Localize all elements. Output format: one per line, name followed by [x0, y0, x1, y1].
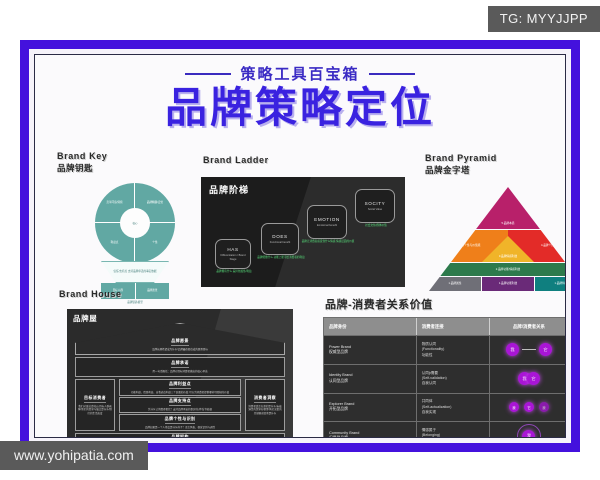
brand-house-label: Brand House [59, 289, 122, 299]
bubble-it: 它 [527, 372, 540, 385]
house-mid-benefit: 品牌利益点 功能利益、情感利益、自我表达利益三个层面的价值 可以为消费者提供哪些… [119, 379, 241, 396]
table-col-link: 消费者连接 [417, 318, 490, 335]
house-left-sub: 我们对谁说话/核心目标人群画像/他们的需求与痛点是什么/他们的生活态度 [78, 405, 112, 415]
house-mid-1-sub: 功能利益、情感利益、自我表达利益三个层面的价值 可以为消费者提供哪些可感知的价值 [131, 391, 229, 394]
dash-right-icon [369, 73, 415, 75]
brand-consumer-table: 品牌身份 消费者连接 品牌/消费者关系 Power Brand 权威型品牌 物质… [323, 317, 566, 438]
table-row: Community Brand 归属型品牌 情感属于 (Belonging) 归… [324, 421, 566, 438]
brand-house-diagram: 品牌屋 品牌愿景 品牌长期希望成为什么/品牌最终要达成的愿景目标 品牌承诺 用一… [67, 309, 293, 438]
table-row: Explorer Brand 开拓型品牌 共同体 (Self-actualiza… [324, 393, 566, 422]
poster-main-title: 品牌策略定位 [35, 86, 565, 130]
house-right-title: 消费者洞察 [254, 395, 276, 403]
brand-key-core: 核心 [120, 208, 150, 238]
brand-ladder-title-cn: 品牌阶梯 [209, 183, 249, 196]
ladder-step-has-sub: Differentiation / Brand Stage [218, 254, 248, 260]
brand-key-diagram: 竞争环境/洞察 品牌精髓/定位 利益点 个性 核心 信任/支持点 支持品牌承诺的… [57, 173, 197, 301]
house-right-sub: 消费者真正在意的是什么/未被满足的需求在哪里/购买决策的关键驱动因素是什么 [248, 405, 282, 415]
row-4-link-en: (Belonging) [422, 433, 484, 438]
brand-house-title-cn: 品牌屋 [73, 313, 97, 324]
pyramid-band-text: 2.品牌功能/情感利益 [429, 263, 566, 276]
house-mid-1-title: 品牌利益点 [169, 381, 191, 389]
relation-overlap-pair: 我 它 [495, 368, 563, 390]
brand-key-label-cn: 品牌钥匙 [57, 162, 107, 174]
brand-consumer-heading: 品牌-消费者关系价值 [325, 295, 433, 312]
brand-pyramid-label-en: Brand Pyramid [425, 153, 497, 163]
relation-ring-icon [517, 424, 541, 438]
table-row: Power Brand 权威型品牌 物质认同 (Functionality) 功… [324, 335, 566, 364]
brand-key-base-2: 品牌愿景 [136, 283, 170, 299]
ladder-note-socity: 社会文化/群体价值 [351, 224, 401, 227]
row-2-cn: 认同型品牌 [329, 379, 411, 384]
brand-ladder-diagram: 品牌阶梯 HAS Differentiation / Brand Stage 品… [201, 177, 405, 287]
brand-ladder-label: Brand Ladder [203, 155, 269, 165]
row-3-cn: 开拓型品牌 [329, 407, 411, 412]
house-promise-sub: 用一句话概括：品牌对目标消费者做出的核心承诺 [152, 370, 207, 373]
relation-triple-group: 我 它 我 [495, 397, 563, 419]
row-1-link-cn2: 功能性 [422, 353, 484, 358]
bubble-me: 我 [506, 343, 519, 356]
brand-key-label: Brand Key 品牌钥匙 [57, 151, 107, 174]
house-mid-2-title: 品牌支持点 [169, 398, 191, 406]
row-4-cn: 归属型品牌 [329, 436, 411, 438]
pyramid-level-top: 5.品牌本质 [429, 187, 566, 229]
ladder-step-emotion-sub: Emotional benefit [317, 224, 337, 227]
pyramid-level-band: 2.品牌功能/情感利益 [429, 263, 566, 276]
row-4-link: 情感属于 (Belonging) 归属 [417, 422, 490, 438]
row-2-link: 认同þ需要 (Self-validation) 自我认同 [417, 365, 490, 393]
site-watermark: www.yohipatia.com [0, 441, 148, 470]
house-mid-3-title: 品牌个性与识别 [165, 416, 196, 424]
pyramid-base-3: 1.品牌特征 [535, 277, 566, 291]
ladder-step-has-title: HAS [227, 247, 238, 252]
row-2-relation: 我 它 [490, 365, 566, 393]
row-3-link: 共同体 (Self-actualization) 自我实现 [417, 394, 490, 422]
relation-linked-pair: 我 它 [495, 339, 563, 361]
pyramid-base-2: 1.品牌功能利益 [482, 277, 535, 291]
poster-inner-mat: 策略工具百宝箱 品牌策略定位 Brand Key 品牌钥匙 竞争环境/洞察 品牌… [29, 49, 571, 443]
pyramid-base-1: 1.品牌属性 [429, 277, 482, 291]
house-mid-2-sub: 凭什么让消费者相信？支持品牌承诺的事实/技术/背书依据 [148, 408, 212, 411]
house-left-title: 目标消费者 [84, 395, 106, 403]
brand-pyramid-label-cn: 品牌金字塔 [425, 164, 497, 176]
relation-ring-group: 我 [495, 425, 563, 438]
bubble-it: 它 [539, 343, 552, 356]
house-promise: 品牌承诺 用一句话概括：品牌对目标消费者做出的核心承诺 [75, 357, 285, 377]
bubble-it: 它 [524, 402, 534, 412]
brand-pyramid-label: Brand Pyramid 品牌金字塔 [425, 153, 497, 176]
row-3-identity: Explorer Brand 开拓型品牌 [324, 394, 417, 422]
house-mid-support: 品牌支持点 凭什么让消费者相信？支持品牌承诺的事实/技术/背书依据 [119, 397, 241, 413]
poster-subtitle: 策略工具百宝箱 [240, 63, 359, 84]
bubble-me: 我 [509, 402, 519, 412]
ladder-step-socity: SOCITY Social Value [355, 189, 395, 223]
house-right-pillar: 消费者洞察 消费者真正在意的是什么/未被满足的需求在哪里/购买决策的关键驱动因素… [245, 379, 285, 431]
ladder-step-socity-title: SOCITY [365, 201, 386, 206]
brand-key-foot: 品牌钥匙模型 [101, 300, 169, 304]
poster-subtitle-row: 策略工具百宝箱 [35, 63, 565, 84]
dash-left-icon [185, 73, 231, 75]
table-header-row: 品牌身份 消费者连接 品牌/消费者关系 [324, 318, 566, 335]
row-4-relation: 我 [490, 422, 566, 438]
brand-key-label-en: Brand Key [57, 151, 107, 161]
brand-key-trapezoid: 信任/支持点 支持品牌承诺的事实依据 [101, 261, 169, 283]
house-bottom-title: 品牌架构 [171, 434, 189, 438]
house-architecture: 品牌架构 品牌与子品牌的关系如何？品牌资产如何管理？ [75, 433, 285, 438]
house-mid-3-sub: 品牌如果是一个人他会是什么样子？语言风格、视觉识别与调性 [145, 426, 215, 429]
row-1-identity: Power Brand 权威型品牌 [324, 336, 417, 364]
poster-screenshot: TG: MYYJJPP 策略工具百宝箱 品牌策略定位 Brand Key 品牌钥… [0, 0, 600, 480]
ladder-step-does: DOES Functional benefit [261, 223, 299, 255]
house-promise-title: 品牌承诺 [171, 360, 189, 368]
house-mid-identity: 品牌个性与识别 品牌如果是一个人他会是什么样子？语言风格、视觉识别与调性 [119, 414, 241, 431]
poster-content-area: 策略工具百宝箱 品牌策略定位 Brand Key 品牌钥匙 竞争环境/洞察 品牌… [34, 54, 566, 438]
tg-watermark-badge: TG: MYYJJPP [488, 6, 600, 32]
ladder-note-does: 品牌能做什么 功能上能带给消费者的利益 [256, 256, 306, 259]
ladder-step-socity-sub: Social Value [368, 208, 382, 211]
row-3-relation: 我 它 我 [490, 394, 566, 422]
house-roof-title: 品牌愿景 [171, 338, 189, 346]
pyramid-triangle: 5.品牌本质 4.品牌个性与价值观 4.品牌个性 3.品牌情感利益 2.品牌功能… [429, 187, 566, 291]
ladder-step-does-sub: Functional benefit [270, 241, 290, 244]
poster-purple-frame: 策略工具百宝箱 品牌策略定位 Brand Key 品牌钥匙 竞争环境/洞察 品牌… [20, 40, 580, 452]
row-1-link: 物质认同 (Functionality) 功能性 [417, 336, 490, 364]
brand-ladder-label-en: Brand Ladder [203, 155, 269, 165]
row-1-cn: 权威型品牌 [329, 350, 411, 355]
bubble-me-second: 我 [539, 402, 549, 412]
row-2-link-cn2: 自我认同 [422, 381, 484, 386]
relation-link-line [522, 349, 536, 350]
brand-consumer-heading-text: 品牌-消费者关系价值 [325, 296, 433, 312]
ladder-step-emotion: EMOTION Emotional benefit [307, 205, 347, 239]
brand-house-label-en: Brand House [59, 289, 122, 299]
row-2-identity: Identity Brand 认同型品牌 [324, 365, 417, 393]
brand-pyramid-diagram: 5.品牌本质 4.品牌个性与价值观 4.品牌个性 3.品牌情感利益 2.品牌功能… [423, 173, 566, 295]
house-left-pillar: 目标消费者 我们对谁说话/核心目标人群画像/他们的需求与痛点是什么/他们的生活态… [75, 379, 115, 431]
ladder-step-has: HAS Differentiation / Brand Stage [215, 239, 251, 269]
ladder-step-does-title: DOES [272, 234, 287, 239]
pyramid-level-base: 1.品牌属性 1.品牌功能利益 1.品牌特征 [429, 277, 566, 291]
ladder-note-has: 品牌拥有什么 差异化属性/利益 [209, 270, 259, 273]
brand-key-circle: 竞争环境/洞察 品牌精髓/定位 利益点 个性 核心 [95, 183, 175, 263]
table-col-relation: 品牌/消费者关系 [490, 318, 566, 335]
table-row: Identity Brand 认同型品牌 认同þ需要 (Self-validat… [324, 364, 566, 393]
row-1-relation: 我 它 [490, 336, 566, 364]
table-col-identity: 品牌身份 [324, 318, 417, 335]
pyramid-top-text: 5.品牌本质 [429, 187, 566, 229]
ladder-note-emotion: 品牌让消费者感受到什么情感 情感层面的价值 [301, 240, 355, 243]
ladder-step-emotion-title: EMOTION [314, 217, 340, 222]
row-3-link-cn2: 自我实现 [422, 410, 484, 415]
house-roof-sub: 品牌长期希望成为什么/品牌最终要达成的愿景目标 [152, 348, 208, 351]
row-4-identity: Community Brand 归属型品牌 [324, 422, 417, 438]
